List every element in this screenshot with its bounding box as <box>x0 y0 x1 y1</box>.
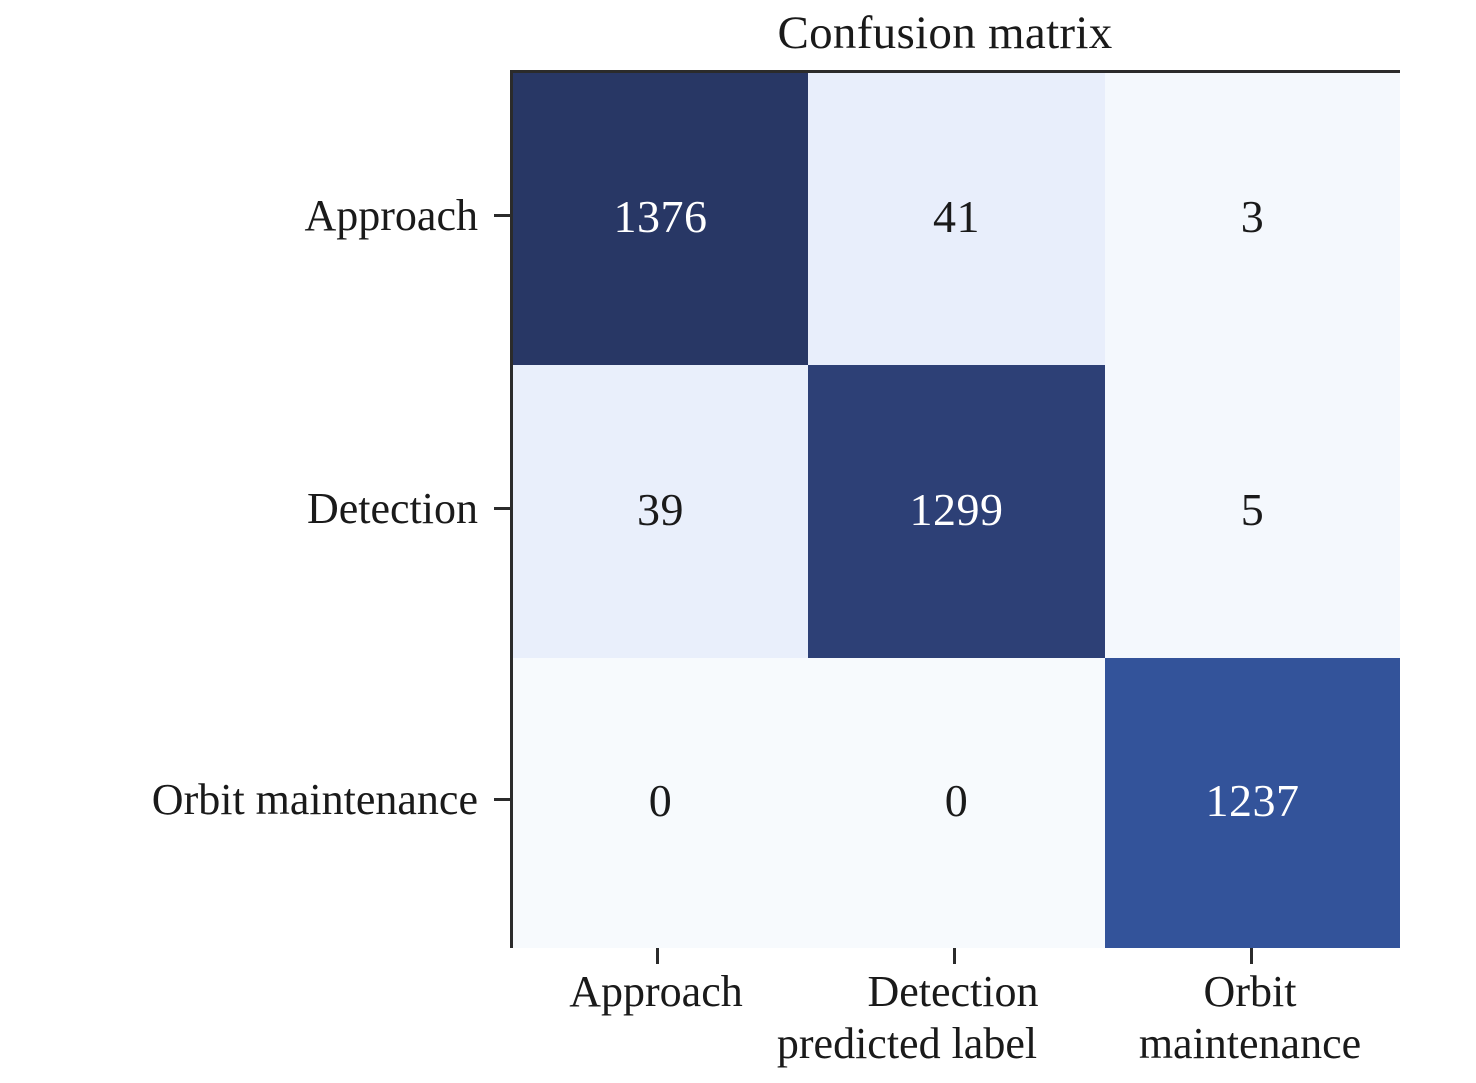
matrix-cell-orbit-maintenance-detection[interactable]: 0 <box>808 658 1105 948</box>
cell-value: 0 <box>945 778 969 824</box>
x-tick-mark-orbit-maintenance <box>1250 948 1253 964</box>
matrix-cell-approach-orbit-maintenance[interactable]: 3 <box>1105 73 1400 365</box>
cell-value: 41 <box>933 194 980 240</box>
cell-value: 5 <box>1241 487 1265 533</box>
matrix-cell-orbit-maintenance-orbit-maintenance[interactable]: 1237 <box>1105 658 1400 948</box>
y-tick-label-detection: Detection <box>0 484 478 534</box>
matrix-cell-approach-detection[interactable]: 41 <box>808 73 1105 365</box>
x-tick-label-approach-text: Approach <box>569 967 743 1016</box>
x-tick-label-orbit-line2: maintenance <box>1100 1018 1400 1070</box>
matrix-cell-detection-approach[interactable]: 39 <box>513 365 808 658</box>
matrix-cell-orbit-maintenance-approach[interactable]: 0 <box>513 658 808 948</box>
cell-value: 0 <box>649 778 673 824</box>
x-tick-label-detection-text: Detection <box>867 967 1038 1016</box>
cell-value: 1376 <box>614 194 708 240</box>
x-tick-label-detection: Detection <box>803 966 1103 1018</box>
x-tick-label-orbit-line1: Orbit <box>1204 967 1297 1016</box>
matrix-cell-detection-detection[interactable]: 1299 <box>808 365 1105 658</box>
cell-value: 3 <box>1241 194 1265 240</box>
cell-value: 1299 <box>910 487 1004 533</box>
y-axis-tick-group: Approach Detection Orbit maintenance <box>0 70 478 948</box>
matrix-cell-detection-orbit-maintenance[interactable]: 5 <box>1105 365 1400 658</box>
page-title: Confusion matrix <box>0 4 1476 62</box>
x-tick-mark-detection <box>953 948 956 964</box>
x-tick-label-approach: Approach <box>506 966 806 1018</box>
cell-value: 39 <box>637 487 684 533</box>
confusion-matrix-plot: 1376 41 3 39 1299 5 0 0 1237 <box>510 70 1400 948</box>
x-tick-mark-approach <box>656 948 659 964</box>
cell-value: 1237 <box>1206 778 1300 824</box>
x-tick-label-orbit-maintenance: Orbit maintenance <box>1100 966 1400 1070</box>
y-tick-label-orbit-maintenance: Orbit maintenance <box>0 775 478 825</box>
x-axis-title: predicted label <box>757 1018 1057 1070</box>
matrix-cell-approach-approach[interactable]: 1376 <box>513 73 808 365</box>
y-tick-label-approach: Approach <box>0 191 478 241</box>
